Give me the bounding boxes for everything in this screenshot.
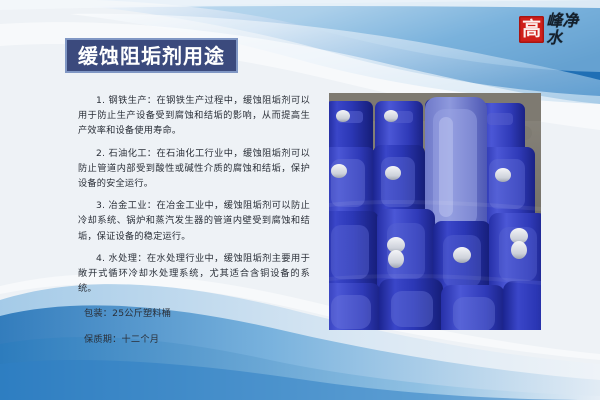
body-content: 1. 钢铁生产：在钢铁生产过程中，缓蚀阻垢剂可以用于防止生产设备受到腐蚀和结垢的…	[78, 93, 310, 355]
product-photo	[329, 93, 541, 330]
shelf-life-info: 保质期：十二个月	[84, 332, 310, 347]
company-logo: 高 峰净水	[519, 11, 591, 47]
paragraph-water-treatment: 4. 水处理：在水处理行业中，缓蚀阻垢剂主要用于敞开式循环冷却水处理系统，尤其适…	[78, 251, 310, 297]
packaging-info: 包装：25公斤塑料桶	[84, 306, 310, 321]
page-title: 缓蚀阻垢剂用途	[65, 38, 238, 73]
logo-seal-character: 高	[522, 20, 541, 39]
slide-canvas: 高 峰净水 缓蚀阻垢剂用途 1. 钢铁生产：在钢铁生产过程中，缓蚀阻垢剂可以用于…	[0, 0, 600, 400]
logo-seal-icon: 高	[519, 16, 544, 43]
paragraph-metallurgy: 3. 冶金工业：在冶金工业中，缓蚀阻垢剂可以防止冷却系统、锅炉和蒸汽发生器的管道…	[78, 198, 310, 244]
logo-wordmark: 峰净水	[546, 12, 591, 46]
paragraph-steel-production: 1. 钢铁生产：在钢铁生产过程中，缓蚀阻垢剂可以用于防止生产设备受到腐蚀和结垢的…	[78, 93, 310, 139]
paragraph-petrochemical: 2. 石油化工：在石油化工行业中，缓蚀阻垢剂可以防止管道内部受到酸性或碱性介质的…	[78, 146, 310, 192]
page-title-text: 缓蚀阻垢剂用途	[78, 46, 225, 66]
